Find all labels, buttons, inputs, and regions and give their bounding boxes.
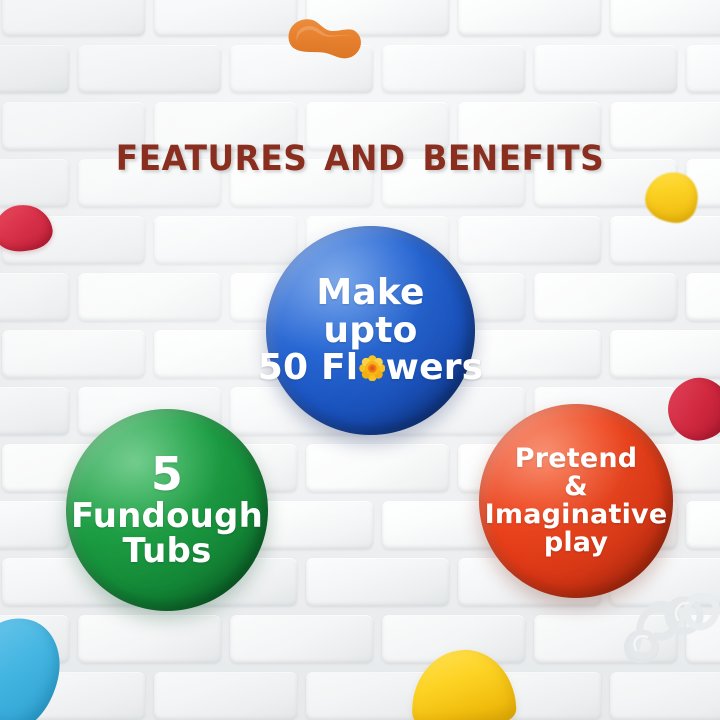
badge-line-flowers-suffix: wers <box>386 347 484 388</box>
brick <box>0 501 69 549</box>
brick <box>686 45 720 93</box>
make-upto-50-flowers-badge[interactable]: Make upto 50 Flwers <box>266 226 475 435</box>
brick <box>306 444 449 492</box>
badge-text-blue: Make upto 50 Flwers <box>248 274 494 386</box>
brick <box>686 273 720 321</box>
brick <box>458 0 601 36</box>
brick-row <box>0 615 720 663</box>
badge-text-red: Pretend & Imaginative play <box>475 445 678 557</box>
brick <box>382 45 525 93</box>
page-title: Features and Benefits <box>0 128 720 178</box>
brick <box>306 558 449 606</box>
flower-icon <box>359 355 386 382</box>
badge-line-flowers-prefix: 50 Fl <box>258 347 359 388</box>
badge-line-play: play <box>485 529 668 557</box>
brick <box>534 273 677 321</box>
promo-graphic: Features and Benefits Make upto 50 Flwer… <box>0 0 720 720</box>
brick <box>78 273 221 321</box>
brick <box>534 45 677 93</box>
brick <box>0 273 69 321</box>
badge-line-flowers: 50 Flwers <box>258 349 484 386</box>
brick <box>458 216 601 264</box>
badge-line-ampersand: & <box>485 473 668 501</box>
brick <box>154 672 297 720</box>
badge-line-tubs: Tubs <box>71 534 263 569</box>
brick <box>230 615 373 663</box>
brick <box>2 330 145 378</box>
brick <box>610 330 720 378</box>
brick <box>686 501 720 549</box>
brick <box>610 0 720 36</box>
badge-line-count: 5 <box>71 451 263 499</box>
badge-line-upto: upto <box>258 312 484 349</box>
badge-line-pretend: Pretend <box>485 445 668 473</box>
brick <box>610 216 720 264</box>
pretend-imaginative-play-badge[interactable]: Pretend & Imaginative play <box>479 404 673 598</box>
brick <box>0 45 69 93</box>
brick <box>610 672 720 720</box>
brick <box>154 216 297 264</box>
badge-text-green: 5 Fundough Tubs <box>61 451 273 570</box>
brick <box>2 0 145 36</box>
brick <box>78 615 221 663</box>
brick <box>0 387 69 435</box>
brick-row <box>0 672 720 720</box>
brick <box>78 45 221 93</box>
brick <box>154 0 297 36</box>
badge-line-imaginative: Imaginative <box>485 501 668 529</box>
badge-line-fundough: Fundough <box>71 499 263 534</box>
badge-line-make: Make <box>258 274 484 311</box>
five-fundough-tubs-badge[interactable]: 5 Fundough Tubs <box>66 409 268 611</box>
